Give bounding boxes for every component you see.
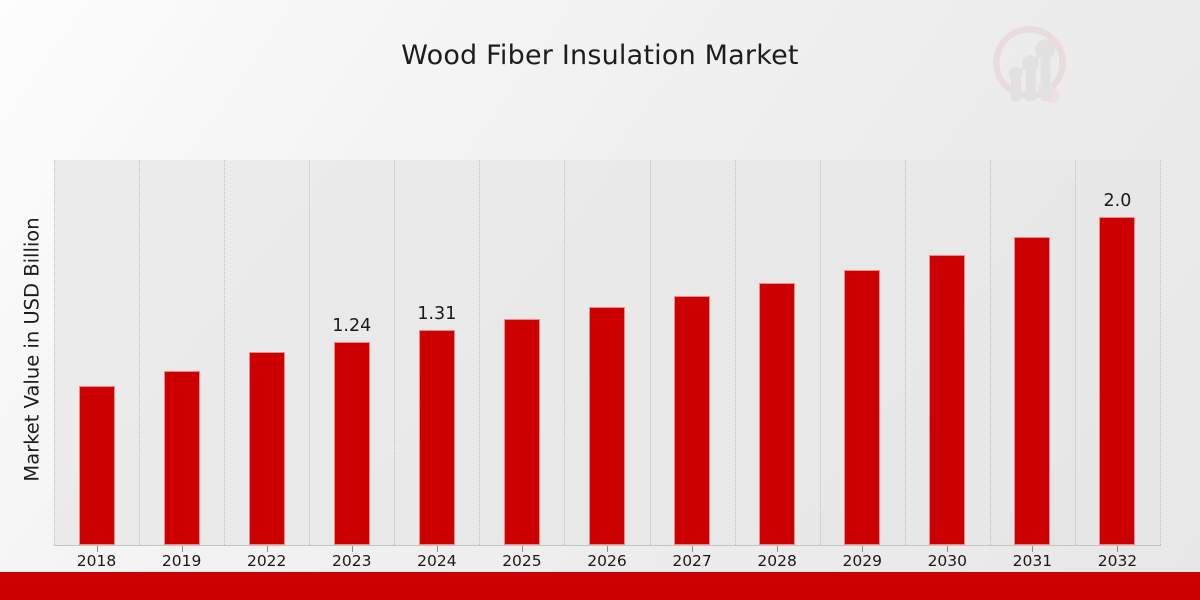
gridline <box>820 160 822 545</box>
bar-value-label: 2.0 <box>1077 191 1157 211</box>
bar-value-label: 1.24 <box>312 316 392 336</box>
x-axis-tick-label: 2032 <box>1072 552 1162 570</box>
gridline <box>224 160 226 545</box>
gridline <box>990 160 992 545</box>
gridline <box>905 160 907 545</box>
x-axis-tick-label: 2019 <box>137 552 227 570</box>
gridline <box>1075 160 1077 545</box>
bar[interactable] <box>1014 237 1050 545</box>
footer-accent-bar <box>0 572 1200 600</box>
bar-chart-icon <box>1009 39 1055 101</box>
bar[interactable] <box>759 283 795 545</box>
bar[interactable] <box>249 352 285 545</box>
plot-area <box>54 160 1160 545</box>
x-axis-tick-label: 2030 <box>902 552 992 570</box>
y-axis-label: Market Value in USD Billion <box>21 150 44 550</box>
bar[interactable] <box>1099 217 1135 545</box>
bar[interactable] <box>334 342 370 545</box>
x-axis-tick-label: 2029 <box>817 552 907 570</box>
gridline <box>479 160 481 545</box>
x-axis-tick-label: 2028 <box>732 552 822 570</box>
x-axis-tick-label: 2026 <box>562 552 652 570</box>
gridline <box>564 160 566 545</box>
x-axis-tick-label: 2031 <box>987 552 1077 570</box>
x-axis-tick-label: 2023 <box>307 552 397 570</box>
bar[interactable] <box>674 296 710 545</box>
bar[interactable] <box>589 307 625 545</box>
bar[interactable] <box>419 330 455 545</box>
x-axis-tick-label: 2022 <box>222 552 312 570</box>
gridline <box>735 160 737 545</box>
bar[interactable] <box>164 371 200 545</box>
x-axis-tick-label: 2027 <box>647 552 737 570</box>
chart-figure: Wood Fiber Insulation Market Market Valu… <box>0 0 1200 600</box>
bar[interactable] <box>504 319 540 545</box>
bar-value-label: 1.31 <box>397 304 477 324</box>
bar[interactable] <box>79 386 115 545</box>
x-axis-tick-label: 2025 <box>477 552 567 570</box>
gridline <box>1160 160 1162 545</box>
brand-watermark-logo <box>988 22 1080 114</box>
gridline <box>309 160 311 545</box>
gridline <box>394 160 396 545</box>
x-axis-tick-label: 2024 <box>392 552 482 570</box>
x-axis-tick-label: 2018 <box>52 552 142 570</box>
bar[interactable] <box>844 270 880 545</box>
bar[interactable] <box>929 255 965 545</box>
gridline <box>650 160 652 545</box>
gridline <box>54 160 56 545</box>
gridline <box>139 160 141 545</box>
